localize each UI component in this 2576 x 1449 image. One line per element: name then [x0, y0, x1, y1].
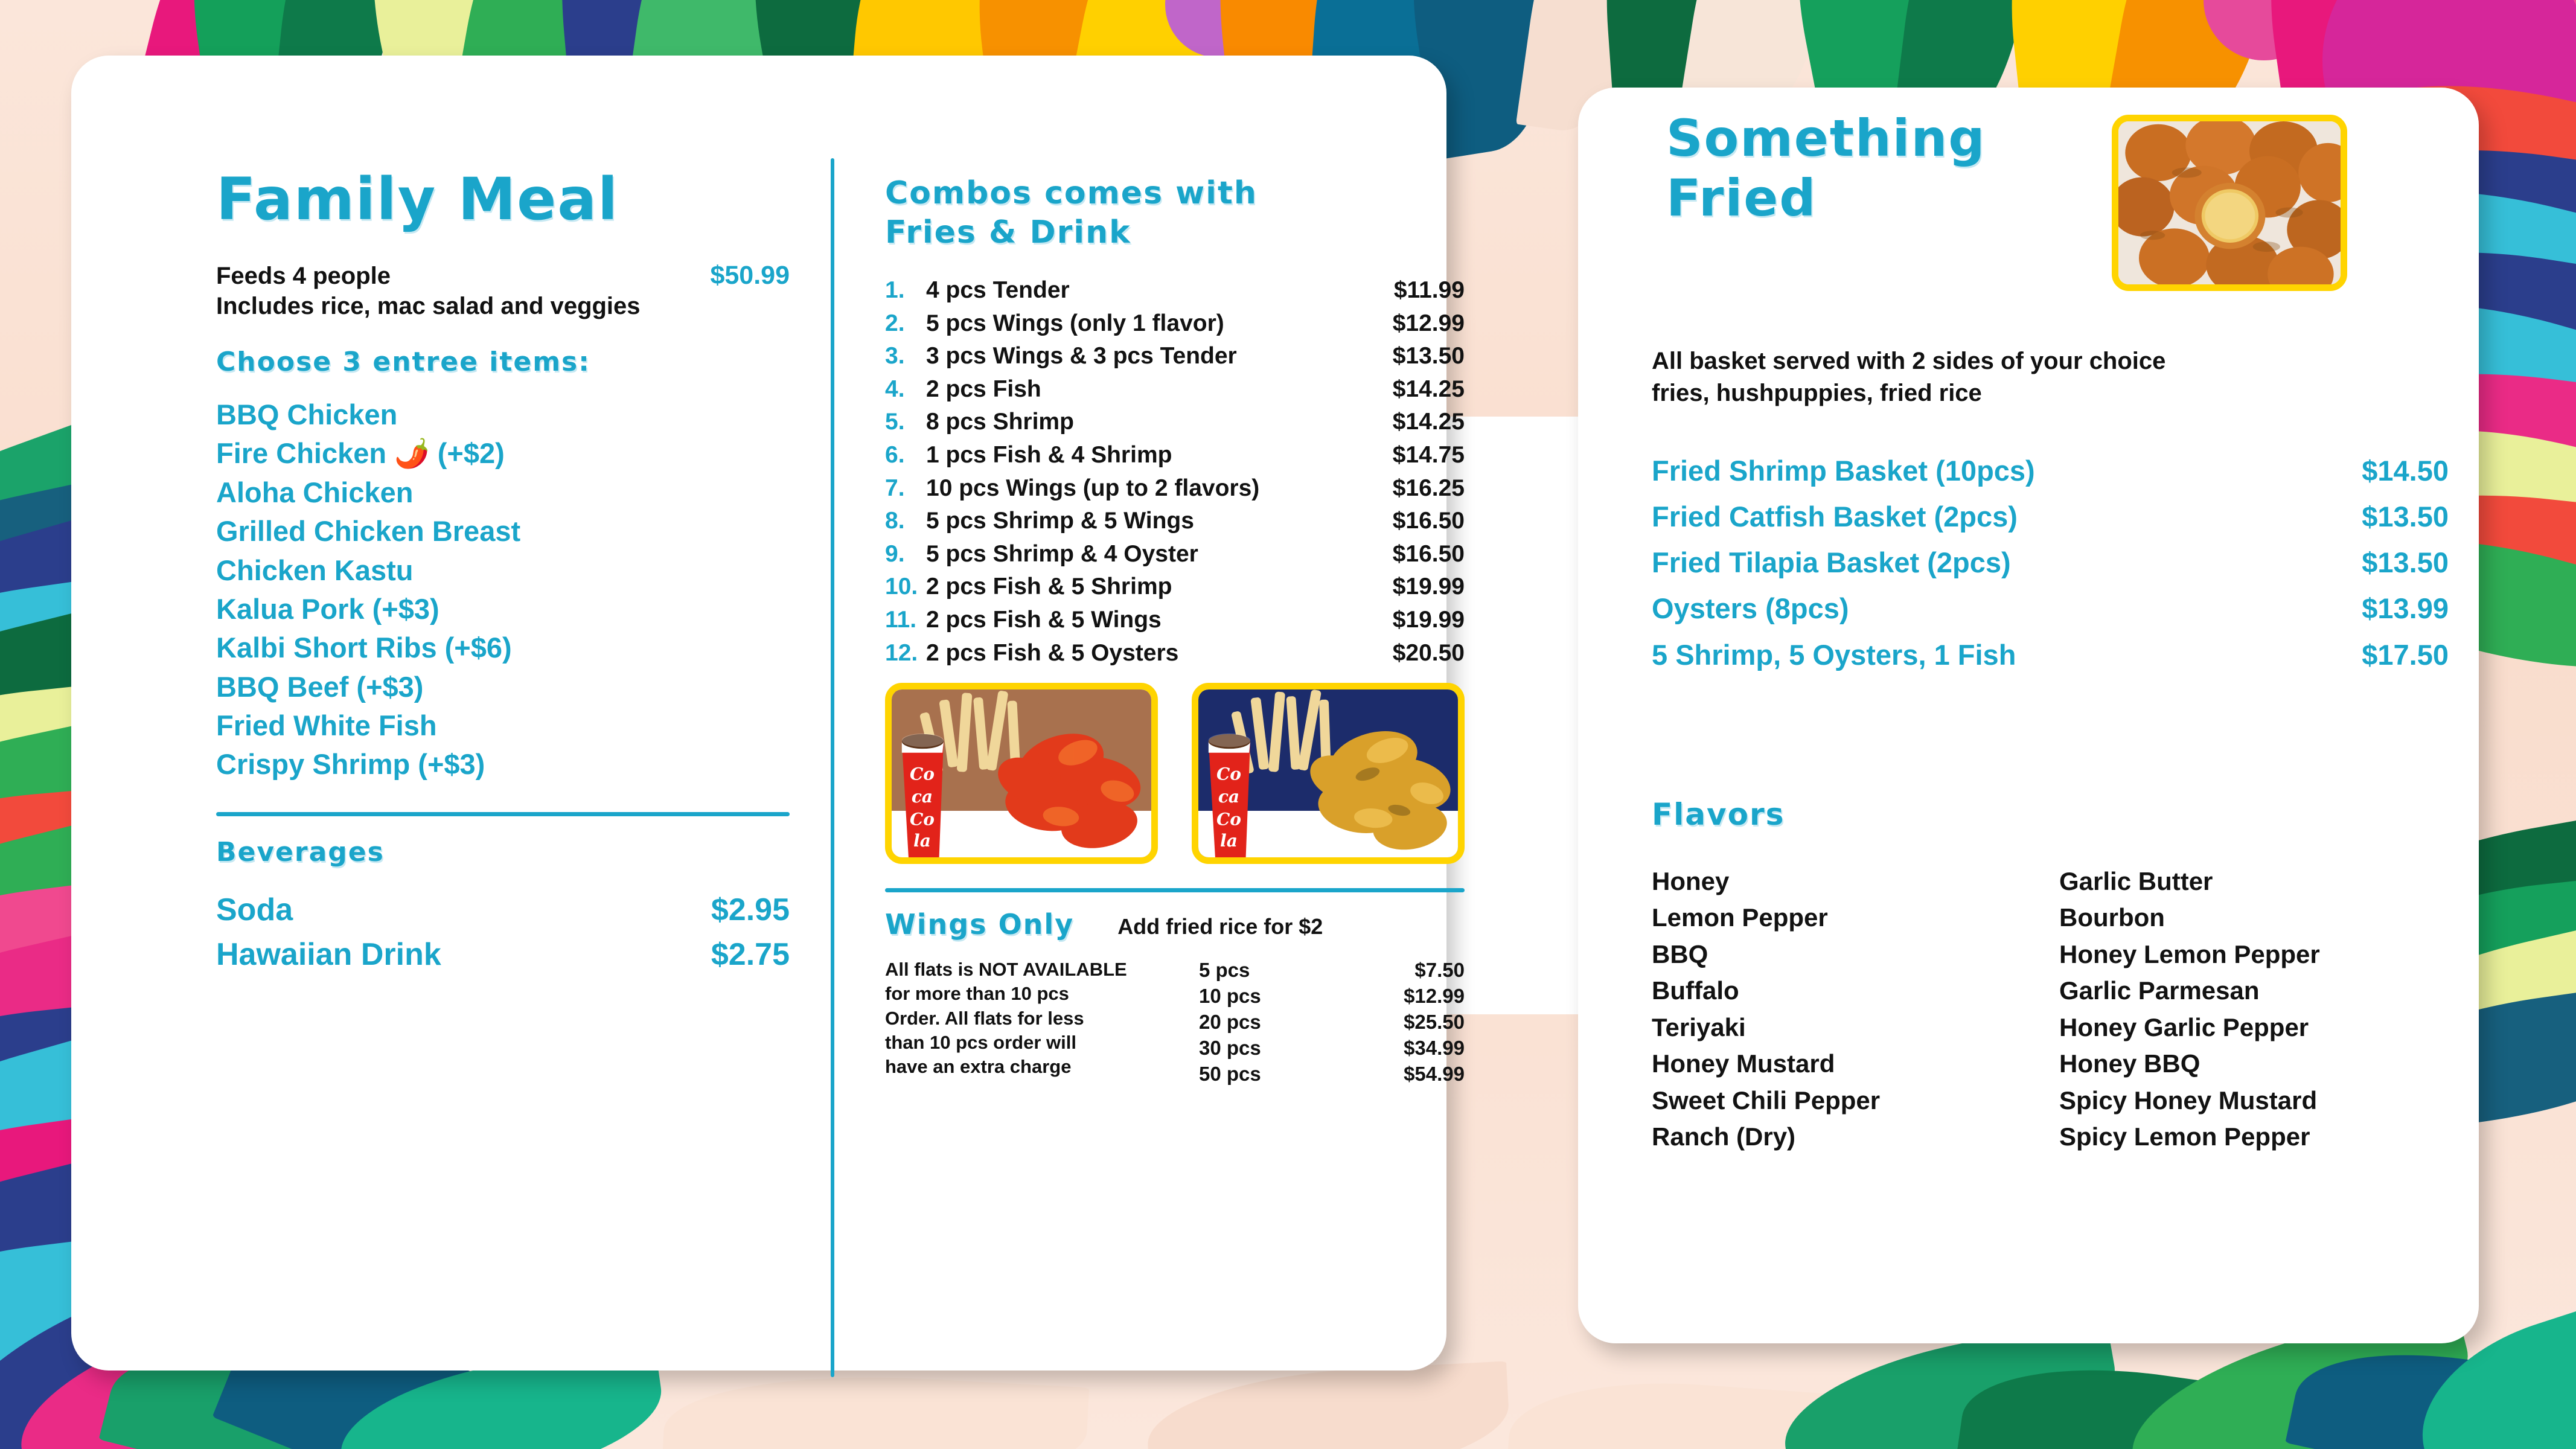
beverages-divider: [216, 812, 790, 816]
table-row[interactable]: 50 pcs $54.99: [1199, 1061, 1465, 1087]
table-row[interactable]: 9. 5 pcs Shrimp & 4 Oyster $16.50: [885, 538, 1465, 571]
table-row[interactable]: 7. 10 pcs Wings (up to 2 flavors) $16.25: [885, 472, 1465, 505]
left-menu-card: Family Meal Feeds 4 people $50.99 Includ…: [71, 56, 1446, 1371]
combo-number: 6.: [885, 439, 926, 472]
combo-number: 2.: [885, 307, 926, 341]
combo-name: 5 pcs Wings (only 1 flavor): [926, 307, 1393, 341]
table-row[interactable]: 11. 2 pcs Fish & 5 Wings $19.99: [885, 604, 1465, 637]
list-item[interactable]: Kalua Pork (+$3): [216, 590, 790, 629]
svg-text:ca: ca: [912, 787, 933, 807]
wings-qty: 50 pcs: [1199, 1061, 1320, 1087]
beverages-title: Beverages: [216, 837, 790, 868]
list-item[interactable]: Spicy Lemon Pepper: [2059, 1119, 2461, 1155]
family-meal-feeds-label: Feeds 4 people: [216, 263, 391, 290]
wings-price: $34.99: [1320, 1035, 1465, 1061]
beverage-name: Soda: [216, 888, 293, 933]
table-row[interactable]: Fried Tilapia Basket (2pcs) $13.50: [1652, 540, 2449, 586]
family-meal-includes-label: Includes rice, mac salad and veggies: [216, 293, 790, 320]
combo-price: $20.50: [1393, 637, 1465, 670]
entree-list: BBQ Chicken Fire Chicken 🌶️ (+$2) Aloha …: [216, 395, 790, 784]
wings-price: $54.99: [1320, 1061, 1465, 1087]
basket-list: Fried Shrimp Basket (10pcs) $14.50 Fried…: [1652, 448, 2449, 678]
something-fried-note-line1: All basket served with 2 sides of your c…: [1652, 345, 2455, 377]
wings-qty: 10 pcs: [1199, 984, 1320, 1009]
wings-flats-note: All flats is NOT AVAILABLE for more than…: [885, 958, 1199, 1087]
list-item[interactable]: Garlic Parmesan: [2059, 973, 2461, 1009]
basket-name: Oysters (8pcs): [1652, 586, 1849, 632]
something-fried-title: Something Fried: [1666, 109, 1986, 228]
basket-price: $13.50: [2362, 540, 2449, 586]
list-item[interactable]: Honey Lemon Pepper: [2059, 936, 2461, 973]
table-row[interactable]: 30 pcs $34.99: [1199, 1035, 1465, 1061]
something-fried-note: All basket served with 2 sides of your c…: [1652, 345, 2455, 409]
combo-name: 8 pcs Shrimp: [926, 406, 1393, 439]
svg-text:Co: Co: [1216, 809, 1241, 829]
combo-price: $16.25: [1393, 472, 1465, 505]
flavors-title: Flavors: [1652, 797, 1785, 832]
combo-number: 1.: [885, 274, 926, 307]
list-item[interactable]: BBQ Chicken: [216, 395, 790, 434]
list-item[interactable]: Spicy Honey Mustard: [2059, 1083, 2461, 1119]
hushpuppies-image: [2118, 121, 2341, 288]
combos-column: Combos comes with Fries & Drink 1. 4 pcs…: [885, 174, 1465, 1087]
svg-text:Co: Co: [910, 764, 935, 784]
combo-name: 5 pcs Shrimp & 4 Oyster: [926, 538, 1393, 571]
combo-price: $16.50: [1393, 505, 1465, 538]
combo-price: $12.99: [1393, 307, 1465, 341]
list-item[interactable]: Garlic Butter: [2059, 863, 2461, 900]
beverages-list: Soda $2.95 Hawaiian Drink $2.75: [216, 888, 790, 977]
table-row[interactable]: 10. 2 pcs Fish & 5 Shrimp $19.99: [885, 571, 1465, 604]
combo-name: 5 pcs Shrimp & 5 Wings: [926, 505, 1393, 538]
combos-title: Combos comes with Fries & Drink: [885, 174, 1465, 252]
golden-wings-combo-photo: Co ca Co la: [1192, 683, 1465, 864]
table-row[interactable]: 20 pcs $25.50: [1199, 1009, 1465, 1035]
basket-name: Fried Catfish Basket (2pcs): [1652, 494, 2018, 540]
table-row[interactable]: 5 pcs $7.50: [1199, 958, 1465, 984]
family-meal-feeds-row: Feeds 4 people $50.99: [216, 261, 790, 290]
something-fried-title-line1: Something: [1666, 109, 1986, 168]
list-item[interactable]: Kalbi Short Ribs (+$6): [216, 629, 790, 667]
list-item[interactable]: Crispy Shrimp (+$3): [216, 745, 790, 784]
svg-text:Co: Co: [1216, 764, 1241, 784]
combo-number: 3.: [885, 340, 926, 373]
wings-only-body: All flats is NOT AVAILABLE for more than…: [885, 958, 1465, 1087]
combos-list: 1. 4 pcs Tender $11.99 2. 5 pcs Wings (o…: [885, 274, 1465, 670]
basket-price: $13.99: [2362, 586, 2449, 632]
wings-price: $12.99: [1320, 984, 1465, 1009]
combo-price: $13.50: [1393, 340, 1465, 373]
combo-number: 9.: [885, 538, 926, 571]
combo-price: $14.25: [1393, 406, 1465, 439]
table-row[interactable]: 2. 5 pcs Wings (only 1 flavor) $12.99: [885, 307, 1465, 341]
combo-name: 10 pcs Wings (up to 2 flavors): [926, 472, 1393, 505]
flavors-columns: Honey Lemon Pepper BBQ Buffalo Teriyaki …: [1652, 863, 2455, 1156]
list-item[interactable]: Hawaiian Drink $2.75: [216, 933, 790, 977]
list-item[interactable]: Honey Garlic Pepper: [2059, 1009, 2461, 1046]
list-item[interactable]: Bourbon: [2059, 900, 2461, 936]
table-row[interactable]: 3. 3 pcs Wings & 3 pcs Tender $13.50: [885, 340, 1465, 373]
list-item[interactable]: Lemon Pepper: [1652, 900, 2053, 936]
add-fried-rice-note: Add fried rice for $2: [1117, 914, 1323, 939]
list-item[interactable]: Ranch (Dry): [1652, 1119, 2053, 1155]
table-row[interactable]: Fried Catfish Basket (2pcs) $13.50: [1652, 494, 2449, 540]
family-meal-column: Family Meal Feeds 4 people $50.99 Includ…: [216, 170, 790, 977]
svg-text:la: la: [913, 831, 931, 851]
svg-text:ca: ca: [1218, 787, 1239, 807]
table-row[interactable]: 1. 4 pcs Tender $11.99: [885, 274, 1465, 307]
combo-number: 12.: [885, 637, 926, 670]
list-item[interactable]: BBQ Beef (+$3): [216, 668, 790, 706]
list-item[interactable]: Fire Chicken 🌶️ (+$2): [216, 434, 790, 473]
combo-number: 4.: [885, 373, 926, 406]
combo-number: 7.: [885, 472, 926, 505]
table-row[interactable]: Oysters (8pcs) $13.99: [1652, 586, 2449, 632]
wings-flats-note-line: than 10 pcs order will: [885, 1031, 1199, 1055]
wings-flats-note-line: All flats is NOT AVAILABLE: [885, 958, 1199, 982]
list-item[interactable]: Honey: [1652, 863, 2053, 900]
combo-name: 2 pcs Fish & 5 Shrimp: [926, 571, 1393, 604]
list-item[interactable]: Soda $2.95: [216, 888, 790, 933]
beverage-price: $2.95: [711, 888, 790, 933]
wings-price: $7.50: [1320, 958, 1465, 984]
combo-name: 2 pcs Fish & 5 Oysters: [926, 637, 1393, 670]
hot-wings-combo-photo: Co ca Co la: [885, 683, 1158, 864]
combo-name: 2 pcs Fish & 5 Wings: [926, 604, 1393, 637]
wings-only-header: Wings Only Add fried rice for $2: [885, 908, 1465, 941]
combo-price: $11.99: [1394, 274, 1465, 307]
list-item[interactable]: Fried White Fish: [216, 706, 790, 745]
wings-qty: 5 pcs: [1199, 958, 1320, 984]
list-item[interactable]: Teriyaki: [1652, 1009, 2053, 1046]
wings-price: $25.50: [1320, 1009, 1465, 1035]
table-row[interactable]: 5 Shrimp, 5 Oysters, 1 Fish $17.50: [1652, 632, 2449, 678]
wings-only-divider: [885, 888, 1465, 892]
table-row[interactable]: 12. 2 pcs Fish & 5 Oysters $20.50: [885, 637, 1465, 670]
something-fried-title-line2: Fried: [1666, 168, 1986, 228]
combo-name: 4 pcs Tender: [926, 274, 1394, 307]
family-meal-price: $50.99: [710, 261, 790, 290]
wings-price-table: 5 pcs $7.50 10 pcs $12.99 20 pcs $25.50 …: [1199, 958, 1465, 1087]
basket-price: $14.50: [2362, 448, 2449, 494]
flavors-column-left: Honey Lemon Pepper BBQ Buffalo Teriyaki …: [1652, 863, 2053, 1156]
list-item[interactable]: Sweet Chili Pepper: [1652, 1083, 2053, 1119]
combos-title-line1: Combos comes with: [885, 174, 1465, 213]
golden-wings-combo-image: Co ca Co la: [1198, 689, 1458, 859]
basket-name: 5 Shrimp, 5 Oysters, 1 Fish: [1652, 632, 2016, 678]
table-row[interactable]: 8. 5 pcs Shrimp & 5 Wings $16.50: [885, 505, 1465, 538]
wings-flats-note-line: have an extra charge: [885, 1055, 1199, 1079]
combo-price: $19.99: [1393, 571, 1465, 604]
table-row[interactable]: 4. 2 pcs Fish $14.25: [885, 373, 1465, 406]
svg-text:Co: Co: [910, 809, 935, 829]
beverage-name: Hawaiian Drink: [216, 933, 441, 977]
combo-number: 8.: [885, 505, 926, 538]
wings-flats-note-line: Order. All flats for less: [885, 1006, 1199, 1031]
column-divider: [831, 158, 834, 1377]
table-row[interactable]: 5. 8 pcs Shrimp $14.25: [885, 406, 1465, 439]
list-item[interactable]: Grilled Chicken Breast: [216, 512, 790, 551]
svg-text:la: la: [1220, 831, 1238, 851]
basket-name: Fried Shrimp Basket (10pcs): [1652, 448, 2035, 494]
combo-name: 2 pcs Fish: [926, 373, 1393, 406]
hot-wings-combo-image: Co ca Co la: [892, 689, 1151, 859]
something-fried-note-line2: fries, hushpuppies, fried rice: [1652, 377, 2455, 409]
combo-number: 5.: [885, 406, 926, 439]
combo-photos: Co ca Co la: [885, 683, 1465, 864]
combo-name: 3 pcs Wings & 3 pcs Tender: [926, 340, 1393, 373]
wings-qty: 30 pcs: [1199, 1035, 1320, 1061]
wings-qty: 20 pcs: [1199, 1009, 1320, 1035]
table-row[interactable]: 6. 1 pcs Fish & 4 Shrimp $14.75: [885, 439, 1465, 472]
combo-name: 1 pcs Fish & 4 Shrimp: [926, 439, 1393, 472]
basket-name: Fried Tilapia Basket (2pcs): [1652, 540, 2011, 586]
choose-entrees-label: Choose 3 entree items:: [216, 347, 790, 377]
combo-number: 11.: [885, 604, 926, 637]
family-meal-title: Family Meal: [216, 170, 790, 228]
combos-title-line2: Fries & Drink: [885, 213, 1465, 252]
table-row[interactable]: 10 pcs $12.99: [1199, 984, 1465, 1009]
combo-price: $16.50: [1393, 538, 1465, 571]
list-item[interactable]: Buffalo: [1652, 973, 2053, 1009]
list-item[interactable]: Aloha Chicken: [216, 473, 790, 512]
combo-price: $14.75: [1393, 439, 1465, 472]
list-item[interactable]: Honey BBQ: [2059, 1046, 2461, 1082]
beverage-price: $2.75: [711, 933, 790, 977]
basket-price: $13.50: [2362, 494, 2449, 540]
wings-only-title: Wings Only: [885, 908, 1074, 941]
list-item[interactable]: Honey Mustard: [1652, 1046, 2053, 1082]
list-item[interactable]: Chicken Kastu: [216, 551, 790, 590]
flavors-column-right: Garlic Butter Bourbon Honey Lemon Pepper…: [2059, 863, 2461, 1156]
combo-price: $14.25: [1393, 373, 1465, 406]
table-row[interactable]: Fried Shrimp Basket (10pcs) $14.50: [1652, 448, 2449, 494]
basket-price: $17.50: [2362, 632, 2449, 678]
list-item[interactable]: BBQ: [1652, 936, 2053, 973]
combo-price: $19.99: [1393, 604, 1465, 637]
hushpuppies-photo: [2112, 115, 2347, 291]
combo-number: 10.: [885, 571, 926, 604]
wings-flats-note-line: for more than 10 pcs: [885, 982, 1199, 1006]
